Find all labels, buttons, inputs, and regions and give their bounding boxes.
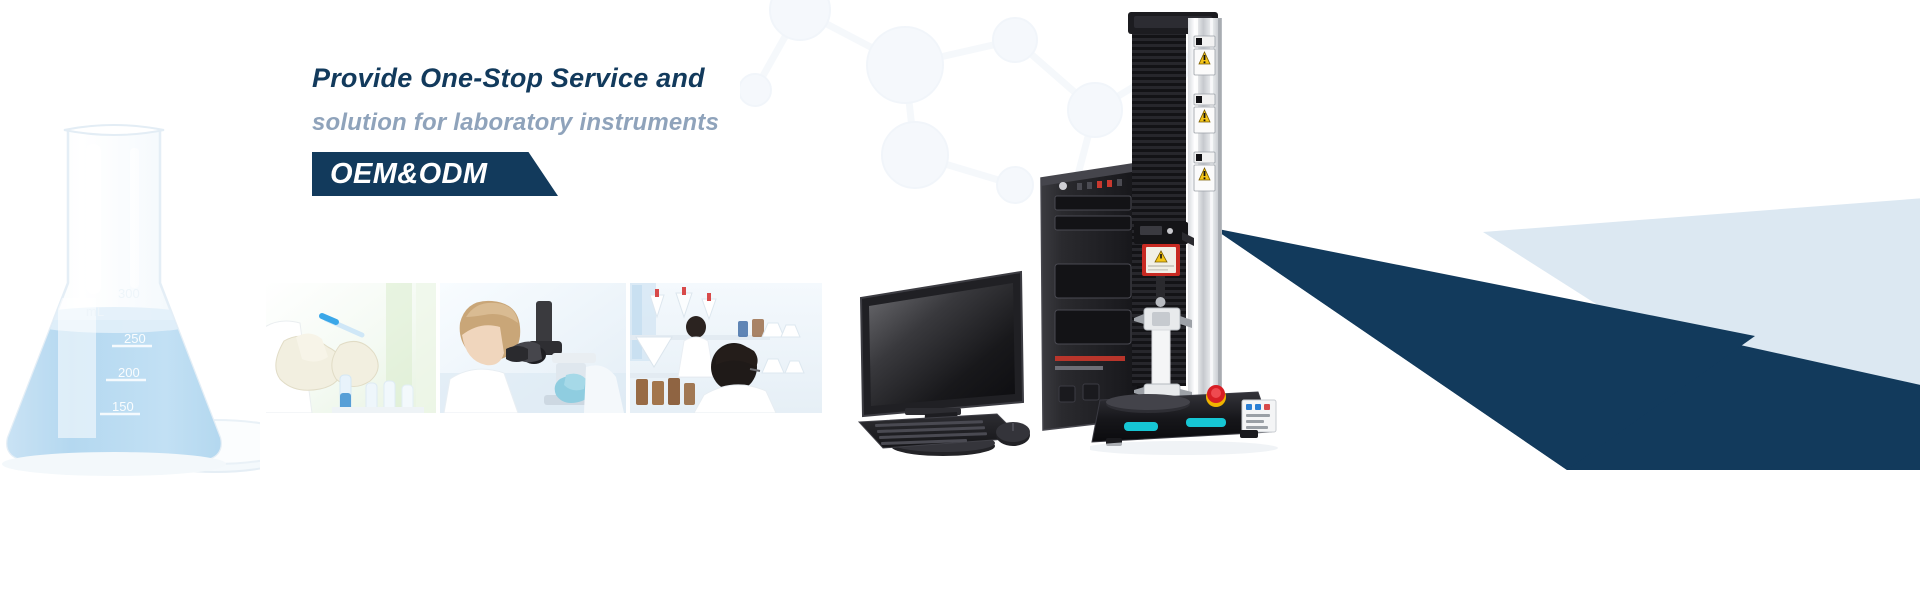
headline-line-1: Provide One-Stop Service and: [312, 58, 872, 98]
svg-text:150: 150: [112, 399, 134, 414]
erlenmeyer-flask-image: 250 200 150 300 mL: [0, 108, 260, 488]
headline-block: Provide One-Stop Service and solution fo…: [312, 58, 872, 196]
hero-banner: 250 200 150 300 mL Provide One-Stop Serv: [0, 0, 1920, 597]
warning-labels: [1194, 36, 1215, 191]
universal-tensile-testing-machine-image: [1090, 8, 1300, 458]
svg-text:mL: mL: [86, 304, 104, 319]
svg-text:200: 200: [118, 365, 140, 380]
svg-text:250: 250: [124, 331, 146, 346]
photo-pipetting-test-tubes: [266, 283, 436, 413]
photo-laboratory-workers: [630, 283, 822, 413]
oem-odm-badge: OEM&ODM: [312, 152, 558, 196]
svg-text:300: 300: [118, 286, 140, 301]
headline-line-2: solution for laboratory instruments: [312, 102, 872, 144]
photo-microscope-scientist: [440, 283, 626, 413]
badge-label: OEM&ODM: [330, 152, 487, 196]
two-tone-chevron-arrow: [1195, 140, 1920, 470]
photo-strip: [266, 283, 822, 413]
